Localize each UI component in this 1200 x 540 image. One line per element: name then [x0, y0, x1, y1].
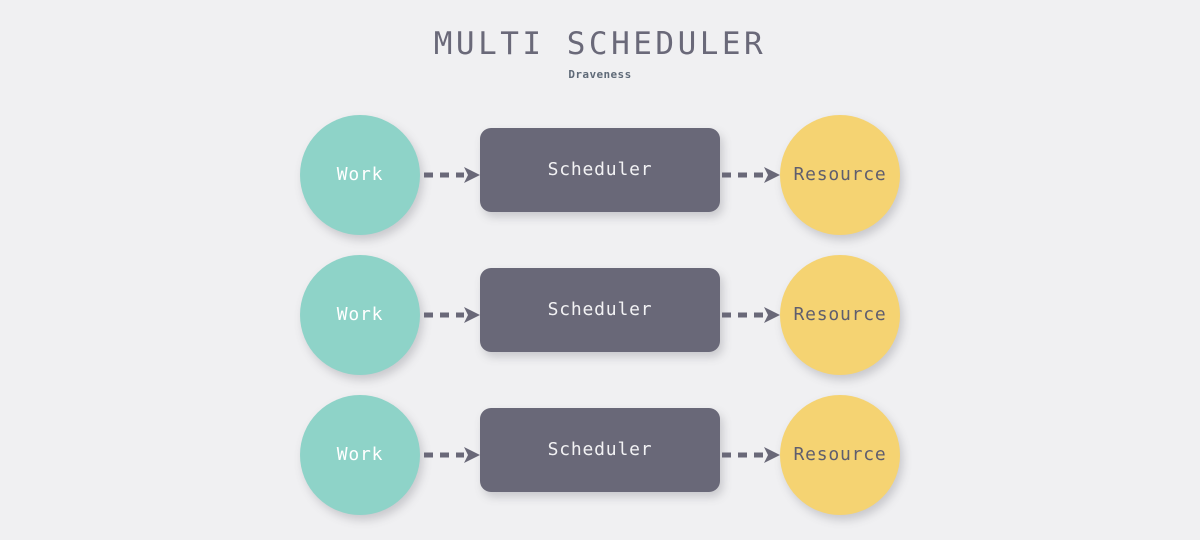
resource-node[interactable]: Resource [780, 255, 900, 375]
resource-node-label: Resource [793, 445, 886, 465]
work-node-label: Work [337, 165, 384, 185]
resource-node-label: Resource [793, 305, 886, 325]
scheduler-box-label: Scheduler [548, 440, 653, 460]
resource-node[interactable]: Resource [780, 115, 900, 235]
dashed-arrow-icon [424, 304, 482, 326]
resource-node[interactable]: Resource [780, 395, 900, 515]
scheduler-box[interactable]: Scheduler [480, 128, 720, 212]
work-node[interactable]: Work [300, 115, 420, 235]
work-node[interactable]: Work [300, 395, 420, 515]
scheduler-row: Work Scheduler Resource [0, 105, 1200, 245]
page-title: MULTI SCHEDULER [0, 24, 1200, 64]
dashed-arrow-icon [722, 164, 782, 186]
work-node-label: Work [337, 445, 384, 465]
dashed-arrow-icon [424, 444, 482, 466]
resource-node-label: Resource [793, 165, 886, 185]
diagram-canvas: MULTI SCHEDULER Draveness Work Scheduler… [0, 0, 1200, 540]
scheduler-box-label: Scheduler [548, 160, 653, 180]
title-block: MULTI SCHEDULER Draveness [0, 24, 1200, 83]
dashed-arrow-icon [722, 444, 782, 466]
scheduler-row: Work Scheduler Resource [0, 245, 1200, 385]
work-node[interactable]: Work [300, 255, 420, 375]
dashed-arrow-icon [424, 164, 482, 186]
scheduler-box-label: Scheduler [548, 300, 653, 320]
dashed-arrow-icon [722, 304, 782, 326]
work-node-label: Work [337, 305, 384, 325]
scheduler-row: Work Scheduler Resource [0, 385, 1200, 525]
page-subtitle: Draveness [0, 67, 1200, 83]
scheduler-box[interactable]: Scheduler [480, 408, 720, 492]
scheduler-box[interactable]: Scheduler [480, 268, 720, 352]
